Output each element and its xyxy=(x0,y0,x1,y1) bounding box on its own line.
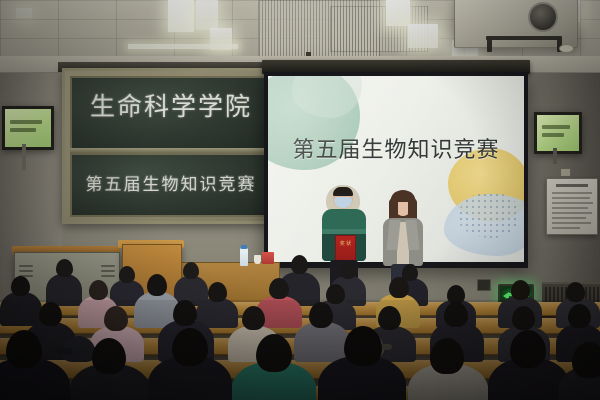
blackboard: 生命科学学院 第五届生物知识竞赛 xyxy=(62,68,280,224)
audience-head xyxy=(119,266,135,283)
poster-heading xyxy=(556,184,588,187)
audience-head xyxy=(104,306,128,331)
wall-information-display-right[interactable] xyxy=(534,112,582,154)
audience-head xyxy=(309,302,333,328)
audience-head xyxy=(11,276,30,296)
display-text-line xyxy=(542,133,564,137)
podium-vent xyxy=(19,265,33,267)
poster-text-line xyxy=(552,197,590,199)
poster-text-line xyxy=(552,222,591,224)
audience-head xyxy=(183,262,199,279)
poster-bracket xyxy=(560,168,571,177)
display-mount-left xyxy=(22,144,26,170)
poster-text-line xyxy=(552,192,592,194)
red-box xyxy=(262,252,274,264)
bottle-cap xyxy=(241,245,247,249)
smoke-detector-icon xyxy=(559,44,574,53)
ceiling xyxy=(0,0,600,62)
audience-member xyxy=(294,322,350,362)
audience-head-foreground xyxy=(172,328,208,366)
audience-head-foreground xyxy=(430,338,464,374)
audience-head xyxy=(511,280,530,300)
poster-text-line xyxy=(552,207,588,209)
wall-information-display-left[interactable] xyxy=(2,106,54,150)
audience-head xyxy=(512,306,535,330)
poster-text-line xyxy=(552,202,593,204)
audience-head xyxy=(173,300,197,326)
audience-head xyxy=(389,277,409,298)
audience-head-foreground xyxy=(344,326,382,366)
award-certificate: 奖 状 xyxy=(335,235,356,262)
audience-head xyxy=(242,306,265,330)
podium-vent xyxy=(101,265,115,267)
audience-head xyxy=(444,302,468,327)
poster-text-line xyxy=(552,212,592,214)
audience-head-foreground xyxy=(572,342,600,378)
display-mount-right xyxy=(553,148,557,164)
water-bottle xyxy=(240,248,248,266)
audience-head-foreground xyxy=(510,330,546,368)
audience-head-foreground xyxy=(92,338,126,374)
audience-head xyxy=(147,274,167,296)
award-certificate-text: 奖 状 xyxy=(336,241,355,247)
blackboard-title-text: 生命科学学院 xyxy=(72,94,270,119)
audience-head xyxy=(39,302,62,326)
podium-vent xyxy=(101,275,115,277)
wall-switch-panel[interactable] xyxy=(477,279,491,291)
audience-head xyxy=(340,262,356,279)
cap-brim-icon xyxy=(56,348,72,354)
ceiling-shading xyxy=(0,0,600,62)
blackboard-panel-top: 生命科学学院 xyxy=(70,76,272,152)
audience-head xyxy=(208,282,227,302)
audience-head xyxy=(378,306,401,330)
lecture-hall-photo: 生命科学学院 第五届生物知识竞赛 第五届生物知识竞赛 奖 状 xyxy=(0,0,600,400)
podium-vent xyxy=(19,270,33,272)
audience-head xyxy=(568,304,591,328)
poster-text-line xyxy=(552,217,586,219)
display-text-line xyxy=(542,125,570,129)
paper-cup xyxy=(254,255,261,264)
podium-vent xyxy=(101,270,115,272)
audience-head xyxy=(566,282,585,302)
audience-head xyxy=(56,259,73,277)
blackboard-subtitle-text: 第五届生物知识竞赛 xyxy=(72,177,270,194)
audience-head-foreground xyxy=(256,334,292,372)
audience-head xyxy=(269,278,289,299)
audience-head xyxy=(326,284,345,304)
audience-head-foreground xyxy=(6,330,42,368)
wall-notice-poster[interactable] xyxy=(546,178,598,235)
display-text-line xyxy=(10,120,42,124)
blackboard-panel-bottom: 第五届生物知识竞赛 xyxy=(70,153,272,217)
display-text-line xyxy=(10,128,36,132)
audience-head xyxy=(291,255,308,274)
poster-text-line xyxy=(552,227,580,229)
audience-member xyxy=(0,292,42,326)
audience-head xyxy=(89,280,108,300)
